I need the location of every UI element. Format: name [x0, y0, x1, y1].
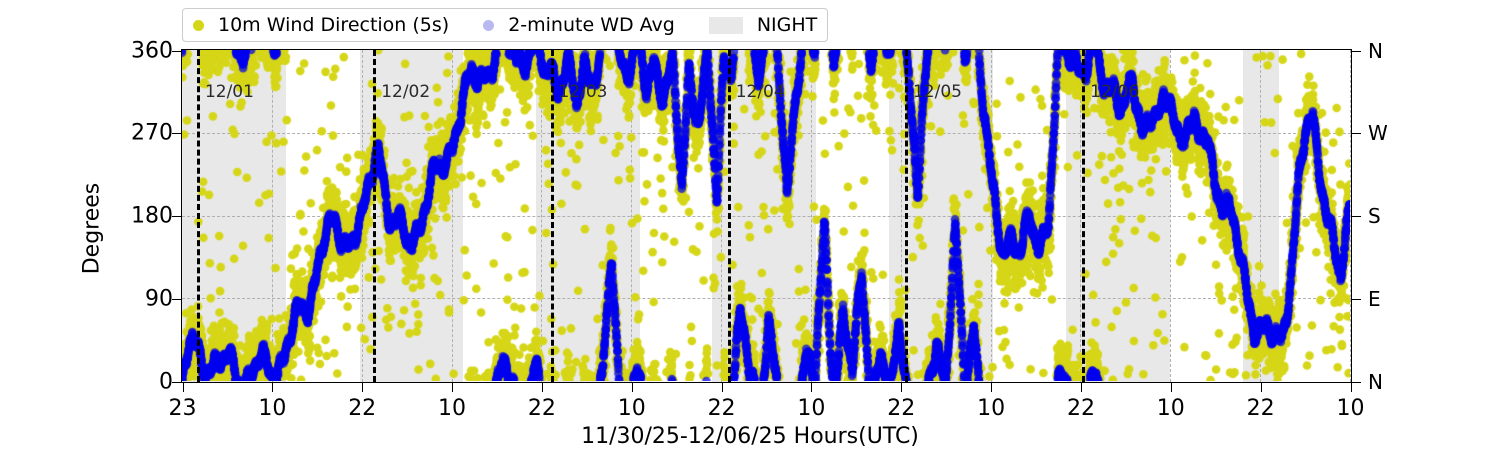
wind-direction-chart: 10m Wind Direction (5s) 2-minute WD Avg …	[0, 0, 1500, 450]
y-tick-right	[1352, 133, 1361, 134]
legend-label-2: NIGHT	[757, 14, 817, 36]
y-tick-left	[172, 216, 181, 217]
y-tick-label-right: E	[1368, 287, 1381, 311]
y-tick-right	[1352, 382, 1361, 383]
day-divider-label: 12/02	[381, 82, 430, 102]
x-tick	[1261, 383, 1262, 392]
y-tick-label-left: 90	[145, 286, 173, 311]
x-tick-label: 10	[618, 396, 646, 421]
x-tick-label: 10	[797, 396, 825, 421]
x-tick-label: 10	[1337, 396, 1365, 421]
x-tick-label: 22	[887, 396, 915, 421]
y-tick-left	[172, 51, 181, 52]
x-tick-label: 22	[528, 396, 556, 421]
y-tick-label-left: 180	[131, 204, 173, 229]
x-tick	[722, 383, 723, 392]
x-tick-label: 22	[1247, 396, 1275, 421]
x-tick	[1351, 383, 1352, 392]
x-tick	[452, 383, 453, 392]
legend-item-2-minute-wd-avg: 2-minute WD Avg	[483, 14, 675, 36]
x-tick	[1081, 383, 1082, 392]
plot-clip: 12/0112/0212/0312/0412/0512/06	[182, 50, 1351, 382]
scatter-dot-icon	[193, 20, 204, 31]
x-tick-label: 10	[977, 396, 1005, 421]
day-divider-label: 12/03	[559, 82, 608, 102]
x-tick	[542, 383, 543, 392]
x-tick	[811, 383, 812, 392]
y-tick-label-right: S	[1368, 204, 1381, 228]
chart-legend: 10m Wind Direction (5s) 2-minute WD Avg …	[182, 8, 828, 42]
x-tick-label: 22	[708, 396, 736, 421]
y-tick-label-left: 360	[131, 38, 173, 63]
y-tick-label-right: W	[1368, 121, 1388, 145]
legend-item-10m-wind-direction: 10m Wind Direction (5s)	[193, 14, 449, 36]
x-tick-label: 22	[1067, 396, 1095, 421]
x-tick-label: 10	[1157, 396, 1185, 421]
vertical-gridline	[1350, 50, 1351, 382]
legend-label-0: 10m Wind Direction (5s)	[218, 14, 449, 36]
day-divider-label: 12/04	[736, 82, 785, 102]
x-tick	[362, 383, 363, 392]
x-tick-label: 10	[438, 396, 466, 421]
x-tick	[1171, 383, 1172, 392]
plot-area: 12/0112/0212/0312/0412/0512/06	[181, 49, 1352, 383]
day-divider-line	[1082, 50, 1085, 382]
x-tick	[991, 383, 992, 392]
day-divider-line	[551, 50, 554, 382]
day-divider-label: 12/01	[205, 82, 254, 102]
x-tick-label: 22	[348, 396, 376, 421]
shaded-band-icon	[709, 17, 743, 34]
y-tick-label-right: N	[1368, 370, 1383, 394]
legend-item-night: NIGHT	[709, 14, 817, 36]
x-tick	[272, 383, 273, 392]
day-divider-label: 12/05	[913, 82, 962, 102]
y-tick-right	[1352, 216, 1361, 217]
x-tick-label: 10	[258, 396, 286, 421]
x-tick	[183, 383, 184, 392]
y-tick-right	[1352, 51, 1361, 52]
day-divider-line	[905, 50, 908, 382]
x-tick	[901, 383, 902, 392]
x-axis-title: 11/30/25-12/06/25 Hours(UTC)	[0, 424, 1500, 449]
day-divider-line	[373, 50, 376, 382]
y-tick-left	[172, 133, 181, 134]
day-divider-label: 12/06	[1090, 82, 1139, 102]
legend-label-1: 2-minute WD Avg	[508, 14, 675, 36]
day-divider-line	[728, 50, 731, 382]
x-tick	[632, 383, 633, 392]
y-tick-label-left: 270	[131, 121, 173, 146]
x-tick-label: 23	[169, 396, 197, 421]
y-tick-label-right: N	[1368, 39, 1383, 63]
day-divider-line	[197, 50, 200, 382]
y-tick-right	[1352, 299, 1361, 300]
y-tick-left	[172, 299, 181, 300]
scatter-dot-icon	[483, 20, 494, 31]
y-axis-title: Degrees	[80, 129, 105, 329]
y-tick-left	[172, 382, 181, 383]
y-tick-label-left: 0	[159, 369, 173, 394]
